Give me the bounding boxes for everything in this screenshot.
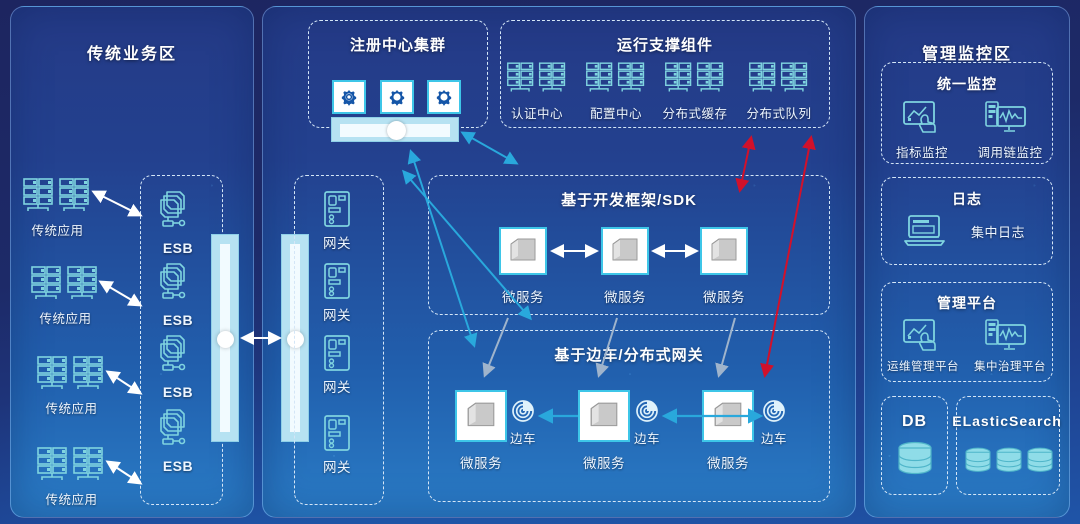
trace-monitor-icon	[985, 100, 1027, 134]
database-icon	[895, 440, 935, 482]
gateway-3-label: 网关	[306, 376, 368, 396]
gateway-icon	[322, 334, 352, 374]
governance-platform-label: 集中治理平台	[963, 358, 1057, 374]
legacy-app-1-label: 传统应用	[10, 220, 105, 239]
server-rack-icon	[36, 447, 106, 487]
esb-3	[153, 332, 195, 374]
gateway-icon	[322, 414, 352, 454]
sidecar-service-2-label: 微服务	[573, 452, 635, 472]
cube-icon	[508, 237, 538, 265]
sidecar-service-1-label: 微服务	[450, 452, 512, 472]
database-cluster-icon	[1025, 443, 1055, 481]
management-platform-title: 管理平台	[881, 293, 1053, 313]
registry-node-2[interactable]	[380, 80, 414, 114]
sidecar-2	[635, 399, 659, 423]
es-cylinder-1	[963, 443, 993, 481]
trace-monitor	[985, 100, 1027, 134]
ops-platform	[902, 318, 940, 352]
runtime-item-1-icon	[506, 62, 568, 98]
sidecar-3	[762, 399, 786, 423]
server-rack-icon	[36, 356, 106, 396]
management-zone-title: 管理监控区	[865, 40, 1069, 64]
cube-icon	[465, 401, 497, 431]
registry-slider-knob[interactable]	[387, 121, 406, 140]
esb-bus-bar[interactable]	[211, 234, 239, 442]
runtime-item-3-label: 分布式缓存	[650, 103, 740, 122]
esb-4	[153, 406, 195, 448]
laptop-log-icon	[904, 214, 946, 248]
es-cylinder-3	[1025, 443, 1055, 481]
trace-monitor-label: 调用链监控	[965, 142, 1055, 161]
esb-2	[153, 260, 195, 302]
registry-cluster-title: 注册中心集群	[308, 34, 488, 55]
gear-icon	[339, 87, 359, 107]
runtime-item-2-icon	[585, 62, 647, 98]
sdk-service-2-label: 微服务	[594, 286, 656, 306]
db-title: DB	[881, 413, 948, 431]
registry-load-balancer[interactable]	[331, 117, 459, 142]
esb-icon	[153, 406, 195, 448]
sidecar-3-label: 边车	[751, 428, 797, 447]
architecture-diagram: 传统业务区 传统应用	[0, 0, 1080, 524]
metrics-monitor-icon	[902, 100, 940, 134]
runtime-item-4-label: 分布式队列	[734, 103, 824, 122]
runtime-item-2-label: 配置中心	[576, 103, 656, 122]
runtime-item-4-icon	[748, 62, 810, 98]
cube-icon	[709, 237, 739, 265]
elasticsearch-title: ELasticSearch	[952, 413, 1062, 429]
sidecar-icon	[762, 399, 786, 423]
sidecar-1-label: 边车	[500, 428, 546, 447]
gear-icon	[387, 87, 407, 107]
gateway-2	[322, 262, 352, 302]
central-log-label: 集中日志	[955, 222, 1041, 241]
legacy-app-2-label: 传统应用	[18, 308, 113, 327]
gateway-4-label: 网关	[306, 456, 368, 476]
gateway-2-label: 网关	[306, 304, 368, 324]
gateway-icon	[322, 262, 352, 302]
esb-3-label: ESB	[148, 384, 208, 400]
esb-2-label: ESB	[148, 312, 208, 328]
runtime-components-title: 运行支撑组件	[500, 34, 830, 55]
esb-1	[153, 188, 195, 230]
logging-title: 日志	[881, 189, 1053, 209]
runtime-item-1-label: 认证中心	[497, 103, 577, 122]
sidecar-zone-title: 基于边车/分布式网关	[428, 344, 830, 365]
metrics-monitor	[902, 100, 940, 134]
gateway-1	[322, 190, 352, 230]
sidecar-2-label: 边车	[624, 428, 670, 447]
metrics-monitor-label: 指标监控	[880, 142, 964, 161]
legacy-app-4	[36, 447, 106, 487]
database-cluster-icon	[963, 443, 993, 481]
esb-1-label: ESB	[148, 240, 208, 256]
cube-icon	[712, 401, 744, 431]
governance-platform-icon	[985, 318, 1027, 352]
registry-node-1[interactable]	[332, 80, 366, 114]
sdk-zone-title: 基于开发框架/SDK	[428, 189, 830, 210]
legacy-app-3	[36, 356, 106, 396]
sidecar-icon	[635, 399, 659, 423]
cube-icon	[588, 401, 620, 431]
cube-icon	[610, 237, 640, 265]
sidecar-1	[511, 399, 535, 423]
gateway-1-label: 网关	[306, 232, 368, 252]
sidecar-service-3[interactable]	[702, 390, 754, 442]
sidecar-service-2[interactable]	[578, 390, 630, 442]
sdk-service-1[interactable]	[499, 227, 547, 275]
esb-icon	[153, 260, 195, 302]
server-rack-icon	[22, 178, 92, 218]
sidecar-icon	[511, 399, 535, 423]
gateway-4	[322, 414, 352, 454]
sdk-service-3[interactable]	[700, 227, 748, 275]
db-cylinder	[895, 440, 935, 482]
esb-bus-connector-dot	[217, 331, 234, 348]
server-rack-icon	[748, 62, 810, 98]
runtime-item-3-icon	[664, 62, 726, 98]
central-log-icon-wrap	[904, 214, 946, 248]
ops-platform-icon	[902, 318, 940, 352]
sidecar-service-3-label: 微服务	[697, 452, 759, 472]
database-cluster-icon	[994, 443, 1024, 481]
unified-monitoring-title: 统一监控	[881, 74, 1053, 94]
server-rack-icon	[506, 62, 568, 98]
server-rack-icon	[585, 62, 647, 98]
legacy-app-1	[22, 178, 92, 218]
sdk-service-1-label: 微服务	[492, 286, 554, 306]
esb-4-label: ESB	[148, 458, 208, 474]
sdk-service-2[interactable]	[601, 227, 649, 275]
gateway-icon	[322, 190, 352, 230]
esb-icon	[153, 332, 195, 374]
gear-icon	[434, 87, 454, 107]
governance-platform	[985, 318, 1027, 352]
legacy-app-2	[30, 266, 100, 306]
legacy-zone-title: 传统业务区	[11, 40, 253, 64]
ops-platform-label: 运维管理平台	[876, 358, 970, 374]
server-rack-icon	[30, 266, 100, 306]
server-rack-icon	[664, 62, 726, 98]
legacy-app-4-label: 传统应用	[24, 489, 119, 508]
esb-icon	[153, 188, 195, 230]
sdk-service-3-label: 微服务	[693, 286, 755, 306]
gateway-3	[322, 334, 352, 374]
registry-node-3[interactable]	[427, 80, 461, 114]
legacy-app-3-label: 传统应用	[24, 398, 119, 417]
es-cylinder-2	[994, 443, 1024, 481]
